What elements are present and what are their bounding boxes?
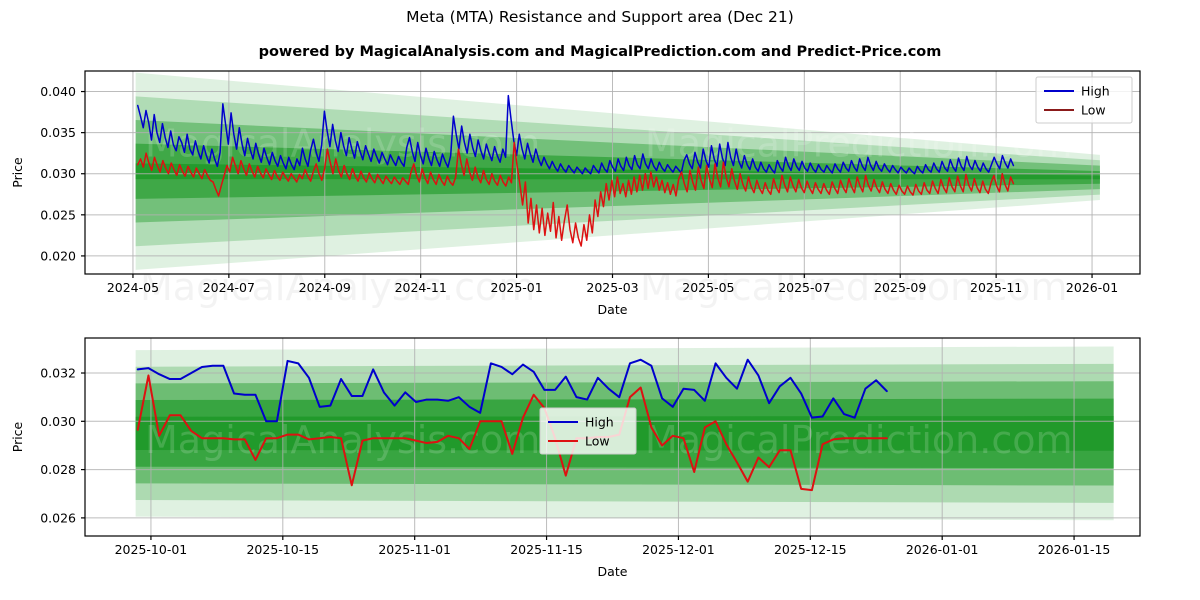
x-tick-label: 2025-10-01 bbox=[115, 542, 188, 557]
x-tick-label: 2025-11-01 bbox=[378, 542, 451, 557]
y-tick-label: 0.020 bbox=[40, 248, 76, 263]
x-tick-label: 2024-05 bbox=[107, 280, 159, 295]
y-tick-label: 0.032 bbox=[40, 366, 76, 381]
x-tick-label: 2025-12-01 bbox=[642, 542, 715, 557]
x-tick-label: 2024-07 bbox=[203, 280, 255, 295]
legend-detail: HighLow bbox=[540, 408, 636, 454]
chart-page: Meta (MTA) Resistance and Support area (… bbox=[0, 0, 1200, 600]
legend-overview: HighLow bbox=[1036, 77, 1132, 123]
y-tick-label: 0.030 bbox=[40, 166, 76, 181]
x-tick-label: 2025-10-15 bbox=[246, 542, 319, 557]
x-tick-label: 2026-01-15 bbox=[1038, 542, 1111, 557]
x-tick-label: 2025-11 bbox=[970, 280, 1022, 295]
legend-label-high: High bbox=[585, 415, 614, 430]
y-axis-title: Price bbox=[10, 157, 25, 188]
x-tick-label: 2026-01-01 bbox=[906, 542, 979, 557]
page-title: Meta (MTA) Resistance and Support area (… bbox=[0, 8, 1200, 26]
x-tick-label: 2025-05 bbox=[682, 280, 734, 295]
x-tick-label: 2024-09 bbox=[299, 280, 351, 295]
legend-label-low: Low bbox=[585, 434, 610, 449]
chart-detail: MagicalAnalysis.comMagicalPrediction.com… bbox=[10, 338, 1140, 579]
x-tick-label: 2026-01 bbox=[1066, 280, 1118, 295]
x-axis-title: Date bbox=[598, 564, 628, 579]
x-tick-label: 2025-11-15 bbox=[510, 542, 583, 557]
x-tick-label: 2025-01 bbox=[490, 280, 542, 295]
x-tick-label: 2025-09 bbox=[874, 280, 926, 295]
x-axis-title: Date bbox=[598, 302, 628, 317]
x-tick-label: 2025-12-15 bbox=[774, 542, 847, 557]
y-tick-label: 0.025 bbox=[40, 207, 76, 222]
y-tick-label: 0.028 bbox=[40, 462, 76, 477]
charts-canvas: MagicalAnalysis.comMagicalPrediction.com… bbox=[0, 0, 1200, 600]
y-axis-title: Price bbox=[10, 421, 25, 452]
y-tick-label: 0.030 bbox=[40, 414, 76, 429]
y-tick-label: 0.040 bbox=[40, 84, 76, 99]
y-tick-label: 0.026 bbox=[40, 510, 76, 525]
y-tick-label: 0.035 bbox=[40, 125, 76, 140]
watermark-text: MagicalAnalysis.com bbox=[145, 418, 540, 462]
page-subtitle: powered by MagicalAnalysis.com and Magic… bbox=[0, 44, 1200, 60]
x-tick-label: 2025-07 bbox=[778, 280, 830, 295]
legend-label-low: Low bbox=[1081, 103, 1106, 118]
legend-label-high: High bbox=[1081, 84, 1110, 99]
x-tick-label: 2024-11 bbox=[395, 280, 447, 295]
x-tick-label: 2025-03 bbox=[586, 280, 638, 295]
